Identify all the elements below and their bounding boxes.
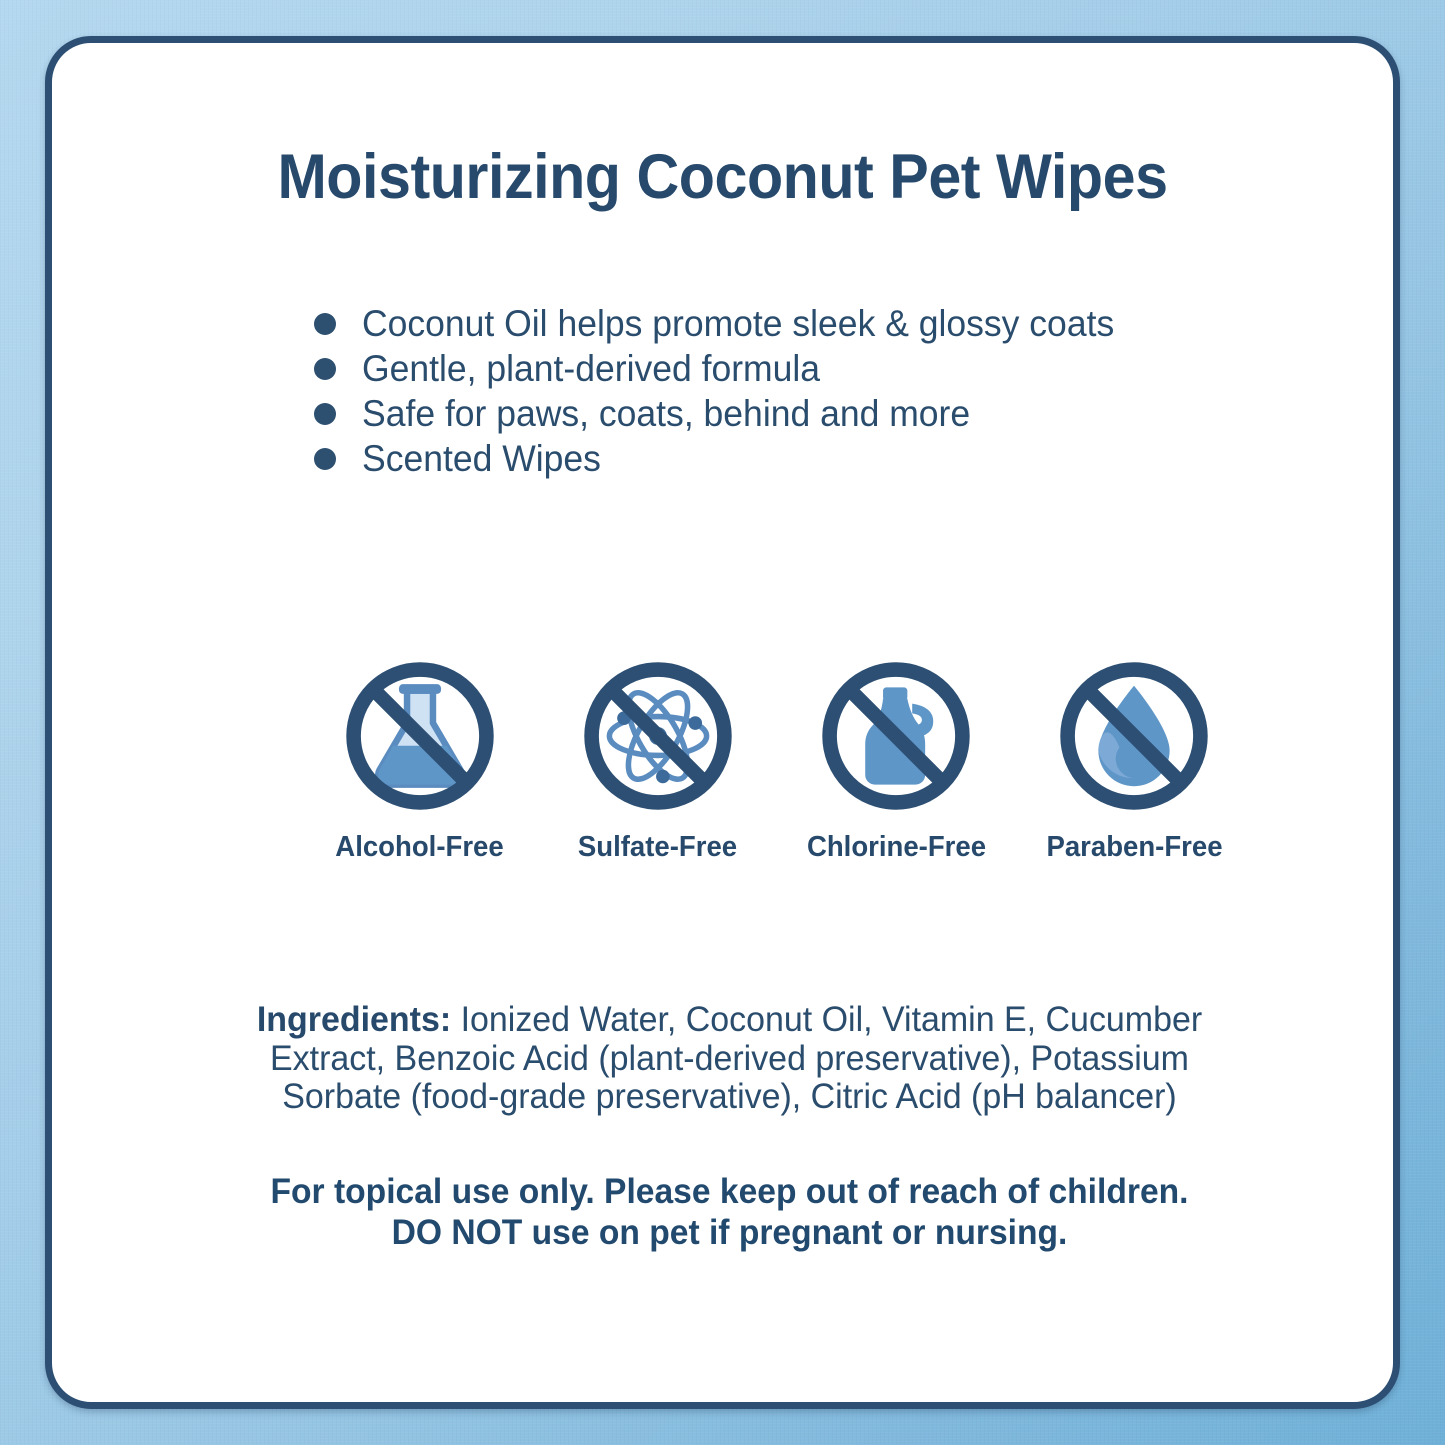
- list-item: Scented Wipes: [314, 436, 1274, 481]
- safety-warning: For topical use only. Please keep out of…: [214, 1171, 1246, 1254]
- badge-label: Sulfate-Free: [551, 831, 765, 864]
- page-title: Moisturizing Coconut Pet Wipes: [92, 141, 1353, 213]
- benefit-label: Coconut Oil helps promote sleek & glossy…: [362, 305, 1114, 342]
- no-atom-icon: [577, 655, 739, 817]
- badge-label: Paraben-Free: [1028, 831, 1242, 864]
- benefits-list: Coconut Oil helps promote sleek & glossy…: [314, 301, 1274, 481]
- bullet-dot-icon: [314, 448, 336, 470]
- badge-chlorine-free: Chlorine-Free: [784, 655, 1009, 864]
- product-infographic-poster: Moisturizing Coconut Pet Wipes Coconut O…: [0, 0, 1445, 1445]
- benefit-label: Scented Wipes: [362, 440, 601, 477]
- no-bleach-jug-icon: [815, 655, 977, 817]
- benefit-label: Gentle, plant-derived formula: [362, 350, 820, 387]
- badge-label: Chlorine-Free: [789, 831, 1003, 864]
- badge-paraben-free: Paraben-Free: [1022, 655, 1247, 864]
- no-flask-icon: [339, 655, 501, 817]
- list-item: Gentle, plant-derived formula: [314, 346, 1274, 391]
- warning-line-2: DO NOT use on pet if pregnant or nursing…: [214, 1212, 1246, 1253]
- free-from-badges: Alcohol-Free Sulfate-Free: [307, 655, 1247, 864]
- ingredients-block: Ingredients: Ionized Water, Coconut Oil,…: [228, 1001, 1232, 1117]
- bullet-dot-icon: [314, 403, 336, 425]
- bullet-dot-icon: [314, 313, 336, 335]
- list-item: Safe for paws, coats, behind and more: [314, 391, 1274, 436]
- content-card: Moisturizing Coconut Pet Wipes Coconut O…: [45, 36, 1400, 1409]
- no-droplet-icon: [1053, 655, 1215, 817]
- benefit-label: Safe for paws, coats, behind and more: [362, 395, 970, 432]
- badge-sulfate-free: Sulfate-Free: [545, 655, 770, 864]
- bullet-dot-icon: [314, 358, 336, 380]
- badge-label: Alcohol-Free: [313, 831, 527, 864]
- badge-alcohol-free: Alcohol-Free: [307, 655, 532, 864]
- warning-line-1: For topical use only. Please keep out of…: [214, 1171, 1246, 1212]
- ingredients-label: Ingredients:: [257, 1000, 451, 1039]
- list-item: Coconut Oil helps promote sleek & glossy…: [314, 301, 1274, 346]
